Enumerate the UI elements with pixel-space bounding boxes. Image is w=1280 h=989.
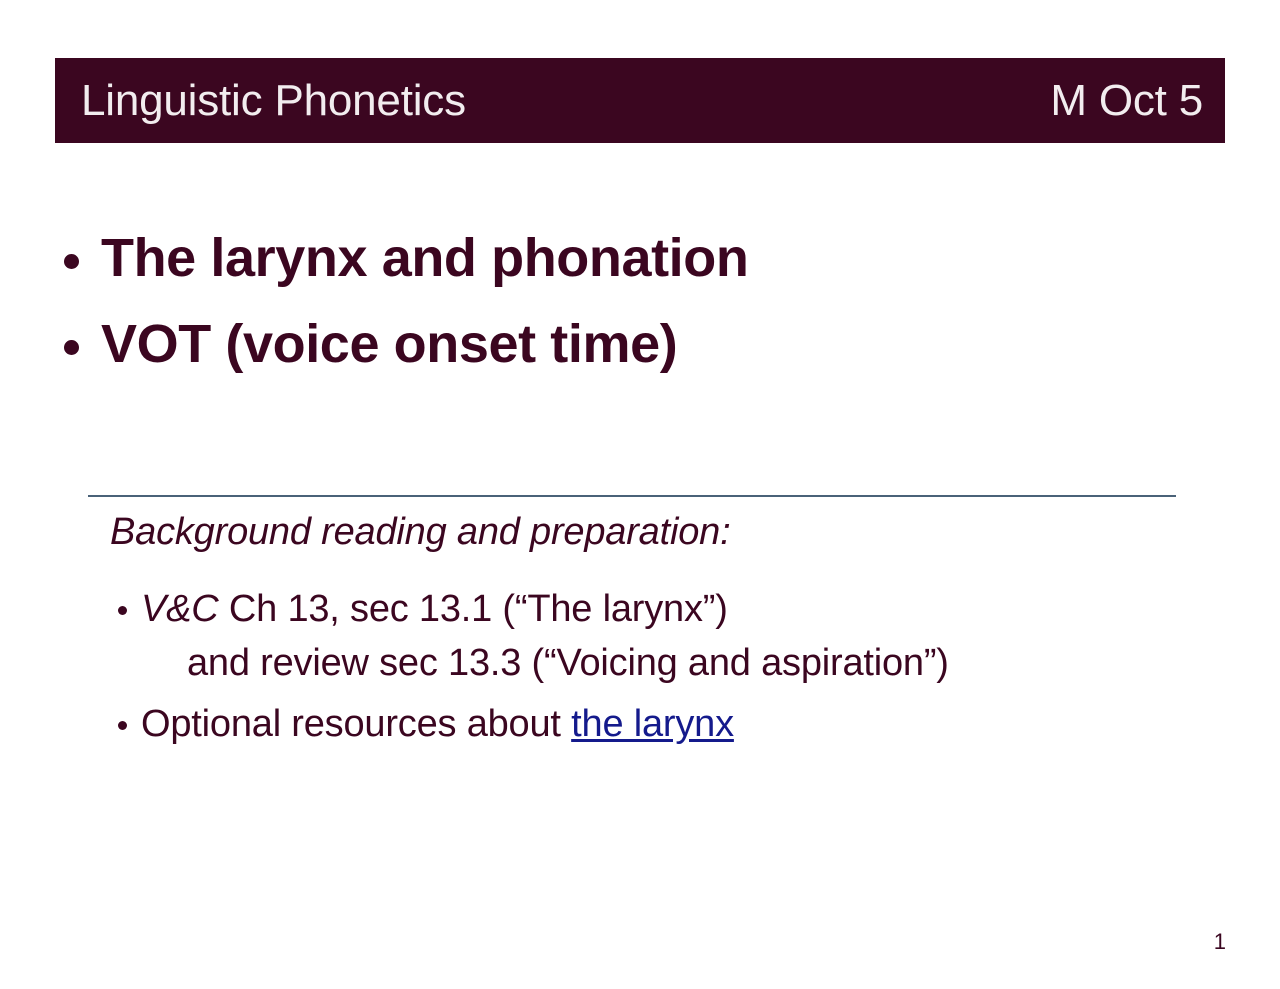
reading-sub-list: V&C Ch 13, sec 13.1 (“The larynx”) and r… — [110, 586, 1190, 747]
header-date: M Oct 5 — [1050, 79, 1203, 123]
reading-item-rest: Ch 13, sec 13.1 (“The larynx”) — [219, 588, 728, 630]
background-reading-heading: Background reading and preparation: — [110, 512, 1190, 554]
reading-item-emphasis: V&C — [141, 588, 219, 630]
reading-item-text: Optional resources about the larynx — [141, 701, 734, 747]
reading-item-text: V&C Ch 13, sec 13.1 (“The larynx”) and r… — [141, 586, 949, 687]
reading-list-item: Optional resources about the larynx — [118, 701, 1190, 747]
main-bullet-item: The larynx and phonation — [64, 228, 1204, 288]
reading-item-prefix: Optional resources about — [141, 703, 571, 745]
main-bullet-list: The larynx and phonation VOT (voice onse… — [64, 228, 1204, 401]
bullet-dot-icon — [64, 340, 79, 355]
bullet-dot-icon — [64, 254, 79, 269]
bullet-dot-icon — [118, 721, 127, 730]
page-title: Linguistic Phonetics — [81, 79, 466, 123]
slide: Linguistic Phonetics M Oct 5 The larynx … — [0, 0, 1280, 989]
slide-header-band: Linguistic Phonetics M Oct 5 — [55, 58, 1225, 143]
main-bullet-label: The larynx and phonation — [101, 228, 748, 288]
reading-item-continuation: and review sec 13.3 (“Voicing and aspira… — [141, 640, 949, 686]
page-number: 1 — [1214, 931, 1226, 953]
main-bullet-label: VOT (voice onset time) — [101, 314, 677, 374]
bullet-dot-icon — [118, 606, 127, 615]
the-larynx-link[interactable]: the larynx — [571, 703, 734, 745]
background-reading-block: Background reading and preparation: V&C … — [110, 512, 1190, 761]
reading-list-item: V&C Ch 13, sec 13.1 (“The larynx”) and r… — [118, 586, 1190, 687]
horizontal-rule — [88, 495, 1176, 497]
main-bullet-item: VOT (voice onset time) — [64, 314, 1204, 374]
